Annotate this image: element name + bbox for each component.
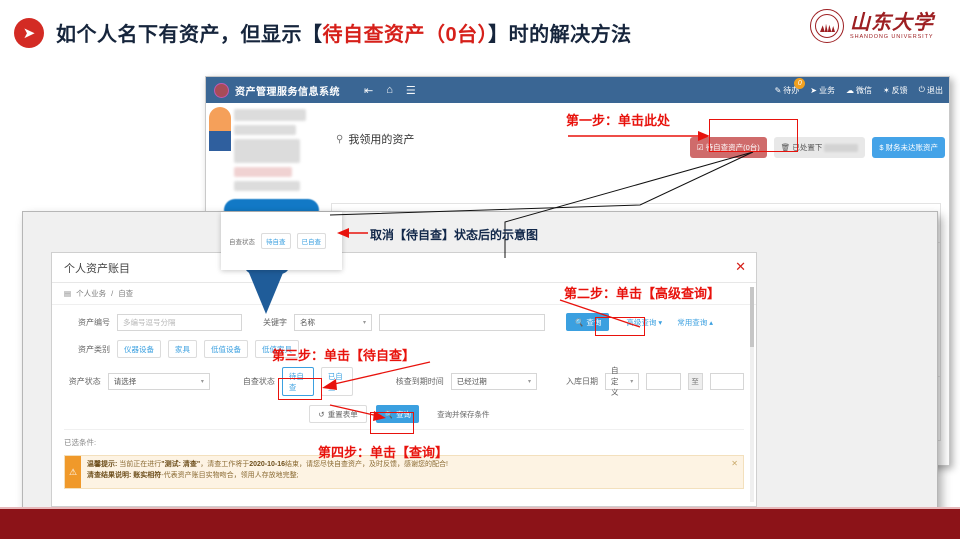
save-query-button[interactable]: 查询并保存条件 [428, 405, 499, 423]
callout-label: 自查状态 [229, 236, 255, 246]
status-row: 资产状态 请选择▾ 自查状态 待自查 已自查 核查到期时间 已经过期▾ 入库日期… [64, 367, 744, 396]
title-suffix: 】时的解决方法 [488, 24, 632, 46]
instock-mode-value: 自定义 [611, 365, 622, 398]
notice-line2-text: -代表资产账目实物吻合，领用人存放地完整; [161, 472, 298, 479]
category-chip-2[interactable]: 低值设备 [204, 340, 248, 358]
list-icon: ▤ [64, 289, 71, 298]
breadcrumb-separator: / [111, 289, 113, 298]
breadcrumb-item-1[interactable]: 自查 [118, 288, 133, 299]
reset-form-button[interactable]: ↺重置表单 [309, 405, 366, 423]
slide-footer [0, 509, 960, 539]
modal-title: 个人资产账目 [64, 260, 130, 276]
asset-code-label: 资产编号 [64, 317, 110, 328]
instock-mode-select[interactable]: 自定义▾ [605, 373, 639, 390]
title-prefix: 如个人名下有资产，但显示【 [56, 24, 323, 46]
highlight-box-step1 [709, 119, 798, 152]
app-logo-icon [214, 83, 229, 98]
callout-tail [247, 268, 285, 314]
nav-business-label: 业务 [819, 85, 835, 96]
close-icon[interactable]: ✕ [735, 259, 746, 275]
annotation-step2: 第二步：单击【高级查询】 [564, 283, 720, 302]
callout-popup: 自查状态 待自查 已自查 [221, 212, 342, 270]
common-search-label: 常用查询 [677, 318, 707, 327]
notice-line1-strong1: "测试: 清查" [161, 461, 200, 468]
instock-from-input[interactable] [646, 373, 680, 390]
slide-header: ➤ 如个人名下有资产，但显示【待自查资产（0台）】时的解决方法 山东大学 SHA… [0, 0, 960, 62]
logo-text: 山东大学 SHANDONG UNIVERSITY [850, 13, 934, 40]
category-label: 资产类别 [64, 344, 110, 355]
notice-line1-date: 2020-10-16 [249, 461, 285, 468]
nav-business[interactable]: ➤业务 [810, 85, 835, 96]
chevron-down-icon: ▾ [201, 378, 204, 385]
reset-form-label: 重置表单 [328, 409, 358, 420]
warning-icon: ⚠ [65, 456, 81, 488]
keyword-label: 关键字 [263, 317, 287, 328]
finance-unposted-button[interactable]: $财务未达账资产 [872, 137, 945, 158]
instock-label: 入库日期 [566, 376, 598, 387]
modal-scrollbar[interactable] [750, 287, 754, 502]
modal-body: 资产编号 多编号逗号分隔 关键字 名称▾ 🔍查询 高级查询 ▾ 常用查询 ▴ 资… [52, 305, 756, 489]
feedback-icon: ✶ [883, 86, 890, 95]
notice-line-2: 清查结果说明: 账实相符-代表资产账目实物吻合，领用人存放地完整; [87, 471, 448, 482]
foreground-window: 个人资产账目 ✕ ▤ 个人业务 / 自查 资产编号 多编号逗号分隔 关键字 名称… [22, 211, 938, 511]
selfcheck-chip-done[interactable]: 已自查 [321, 367, 353, 396]
highlight-box-step4 [370, 412, 414, 434]
money-icon: $ [879, 143, 883, 152]
nav-feedback-label: 反馈 [892, 85, 908, 96]
callout-chip-1: 已自查 [297, 233, 327, 249]
chevron-down-icon: ▾ [528, 378, 531, 385]
blurred-info-4 [234, 181, 300, 191]
annotation-step1: 第一步：单击此处 [566, 110, 670, 129]
asset-status-value: 请选择 [114, 376, 137, 387]
breadcrumb-item-0[interactable]: 个人业务 [76, 288, 106, 299]
save-query-label: 查询并保存条件 [437, 409, 490, 420]
category-chip-1[interactable]: 家具 [168, 340, 197, 358]
reset-icon: ↺ [318, 410, 324, 419]
notice-line2-strong: 账实相符 [133, 472, 161, 479]
blurred-count [824, 144, 858, 152]
keyword-select[interactable]: 名称▾ [294, 314, 372, 331]
blurred-info-3 [234, 167, 292, 177]
close-icon[interactable]: ✕ [731, 459, 738, 468]
asset-status-label: 资产状态 [64, 376, 101, 387]
search-icon: 🔍 [574, 318, 583, 327]
checkbox-icon: ☑ [697, 143, 704, 152]
notice-line-1: 温馨提示: 当前正在进行"测试: 清查"，清查工作将于2020-10-16结束，… [87, 460, 448, 471]
due-value: 已经过期 [457, 376, 487, 387]
section-title: ⚲ 我领用的资产 [336, 131, 414, 147]
send-icon: ➤ [14, 18, 44, 48]
nav-wechat-label: 微信 [856, 85, 872, 96]
blurred-username [234, 109, 306, 121]
chevron-down-icon: ▾ [363, 319, 366, 326]
asset-code-input[interactable]: 多编号逗号分隔 [117, 314, 242, 331]
annotation-step4: 第四步：单击【查询】 [318, 442, 448, 461]
nav-wechat[interactable]: ☁微信 [846, 85, 872, 96]
blurred-info-2 [234, 139, 300, 163]
edit-icon: ✎ [775, 86, 782, 95]
user-icon: ⚲ [336, 134, 343, 145]
menu-icon[interactable]: ☰ [406, 84, 416, 97]
page-title: 如个人名下有资产，但显示【待自查资产（0台）】时的解决方法 [56, 18, 632, 47]
instock-to-input[interactable] [710, 373, 744, 390]
nav-logout-label: 退出 [927, 85, 943, 96]
user-profile-panel [206, 103, 334, 223]
callout-chip-0: 待自查 [261, 233, 291, 249]
todo-badge: 0 [794, 78, 805, 89]
chevron-down-icon: ▾ [630, 378, 633, 385]
nav-feedback[interactable]: ✶反馈 [883, 85, 908, 96]
university-seal-icon [810, 9, 844, 43]
wechat-icon: ☁ [846, 86, 854, 95]
modal-header: 个人资产账目 ✕ [52, 253, 756, 283]
notice-line1-text: 当前正在进行 [119, 461, 161, 468]
collapse-icon[interactable]: ⇤ [364, 84, 373, 97]
system-name: 资产管理服务信息系统 [235, 83, 340, 98]
due-label: 核查到期时间 [396, 376, 444, 387]
annotation-callout-note: 取消【待自查】状态后的示意图 [370, 226, 538, 243]
app-topbar: 资产管理服务信息系统 ⇤ ⌂ ☰ ✎待办0 ➤业务 ☁微信 ✶反馈 ⏻退出 [206, 77, 949, 103]
due-select[interactable]: 已经过期▾ [451, 373, 537, 390]
keyword-input[interactable] [379, 314, 545, 331]
highlight-box-step3 [278, 378, 322, 400]
logo-name-cn: 山东大学 [850, 13, 934, 34]
shandong-university-logo: 山东大学 SHANDONG UNIVERSITY [810, 6, 950, 46]
notice-line1-text2: ，清查工作将于 [200, 461, 249, 468]
category-chip-0[interactable]: 仪器设备 [117, 340, 161, 358]
logo-name-en: SHANDONG UNIVERSITY [850, 34, 934, 40]
topbar-nav-icons[interactable]: ⇤ ⌂ ☰ [364, 84, 416, 97]
notice-line2-label: 清查结果说明: [87, 472, 131, 479]
section-title-label: 我领用的资产 [348, 131, 414, 147]
nav-todo[interactable]: ✎待办0 [775, 85, 800, 96]
send-icon: ➤ [810, 86, 817, 95]
topbar-right-menu[interactable]: ✎待办0 ➤业务 ☁微信 ✶反馈 ⏻退出 [775, 77, 943, 103]
highlight-box-step2 [595, 317, 645, 336]
nav-logout[interactable]: ⏻退出 [919, 85, 943, 96]
blurred-info-1 [234, 125, 296, 135]
keyword-select-value: 名称 [300, 317, 315, 328]
annotation-step3: 第三步：单击【待自查】 [272, 345, 415, 364]
finance-unposted-label: 财务未达账资产 [886, 142, 939, 153]
avatar [209, 107, 231, 151]
selfcheck-label: 自查状态 [243, 376, 275, 387]
instock-range-sep: 至 [688, 373, 703, 390]
home-icon[interactable]: ⌂ [386, 84, 393, 97]
notice-line1-label: 温馨提示: [87, 461, 117, 468]
title-highlight: 待自查资产（0台） [323, 24, 489, 46]
notice-line1-text3: 结束，请您尽快自查资产，及时反馈，感谢您的配合! [285, 461, 448, 468]
power-icon: ⏻ [919, 85, 925, 95]
scrollbar-thumb[interactable] [750, 287, 754, 347]
common-search-link[interactable]: 常用查询 ▴ [677, 317, 713, 328]
asset-status-select[interactable]: 请选择▾ [108, 373, 210, 390]
